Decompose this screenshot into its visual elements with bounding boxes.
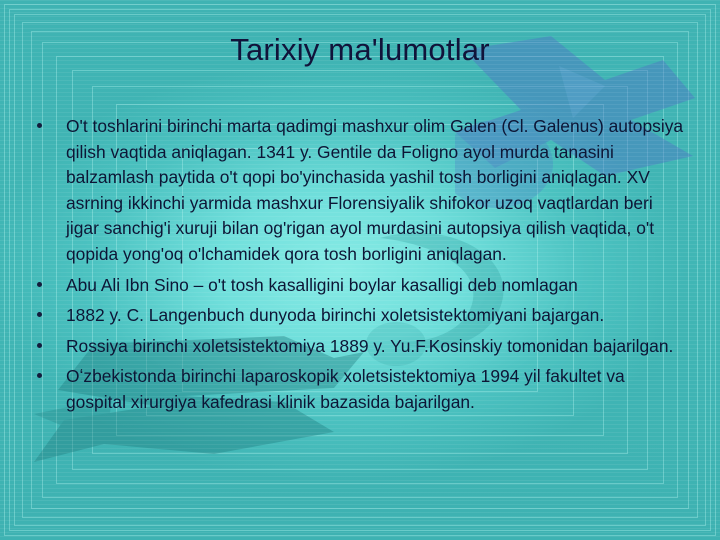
bullet-point-icon — [37, 123, 42, 128]
list-item: O't toshlarini birinchi marta qadimgi ma… — [28, 114, 688, 268]
bullet-point-icon — [37, 373, 42, 378]
list-item-text: O't toshlarini birinchi marta qadimgi ma… — [66, 116, 683, 264]
bullet-list: O't toshlarini birinchi marta qadimgi ma… — [28, 114, 688, 421]
bullet-point-icon — [37, 282, 42, 287]
list-item-text: Oʻzbekistonda birinchi laparoskopik xole… — [66, 366, 625, 412]
presentation-slide: Tarixiy ma'lumotlar O't toshlarini birin… — [0, 0, 720, 540]
list-item-text: Abu Ali Ibn Sino – o't tosh kasalligini … — [66, 275, 578, 295]
list-item: Rossiya birinchi xoletsistektomiya 1889 … — [28, 334, 688, 360]
bullet-point-icon — [37, 343, 42, 348]
page-title: Tarixiy ma'lumotlar — [0, 30, 720, 70]
list-item: Oʻzbekistonda birinchi laparoskopik xole… — [28, 364, 688, 415]
list-item: 1882 y. C. Langenbuch dunyoda birinchi x… — [28, 303, 688, 329]
slide-content: Tarixiy ma'lumotlar O't toshlarini birin… — [0, 0, 720, 540]
bullet-point-icon — [37, 312, 42, 317]
list-item-text: Rossiya birinchi xoletsistektomiya 1889 … — [66, 336, 673, 356]
list-item: Abu Ali Ibn Sino – o't tosh kasalligini … — [28, 273, 688, 299]
list-item-text: 1882 y. C. Langenbuch dunyoda birinchi x… — [66, 305, 604, 325]
